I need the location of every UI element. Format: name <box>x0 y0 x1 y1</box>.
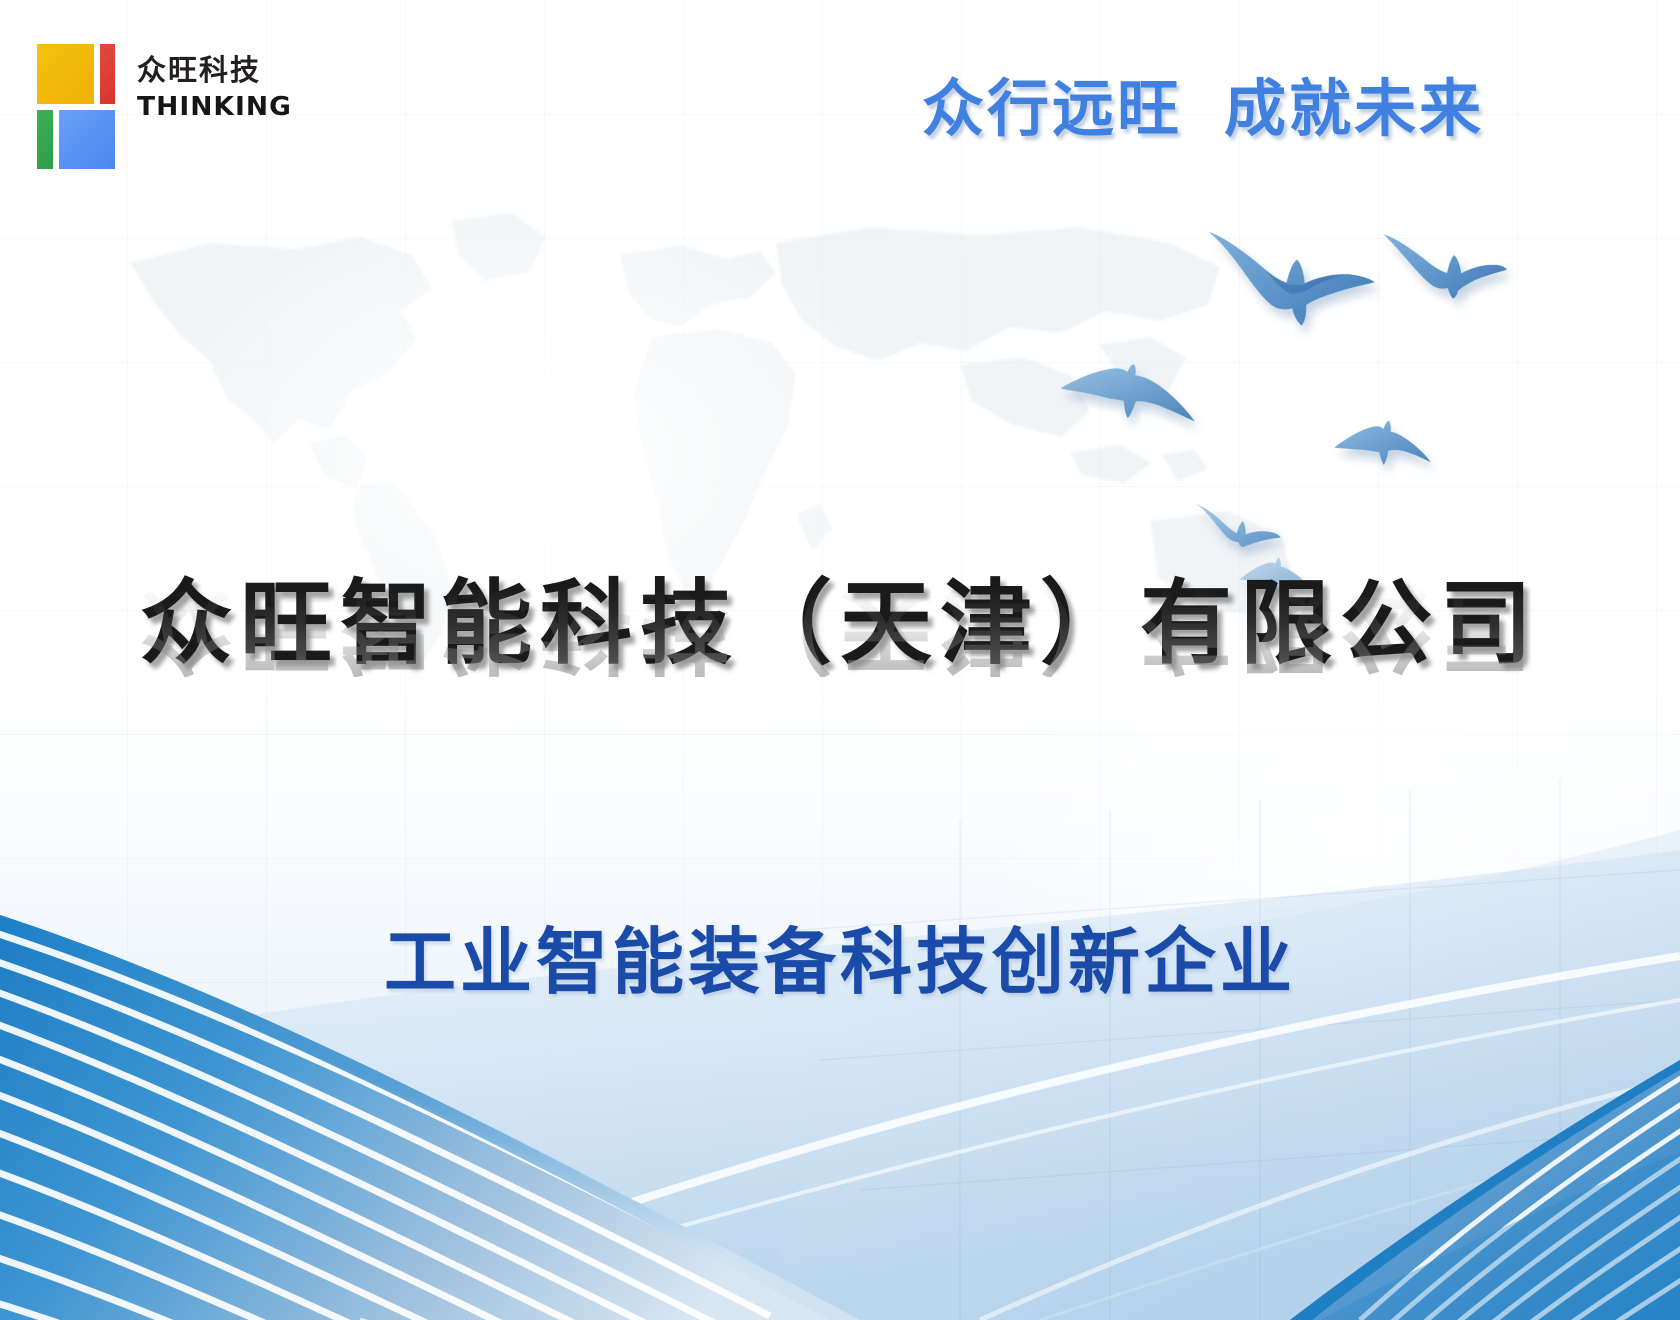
seagull-icon <box>1207 216 1380 333</box>
page-subtitle: 工业智能装备科技创新企业 <box>0 903 1680 1008</box>
bottom-wave-decoration <box>0 760 1680 1320</box>
seagull-icon <box>1381 219 1510 307</box>
seagull-icon <box>1332 416 1432 471</box>
title-group: 众旺智能科技（天津）有限公司 众旺智能科技（天津）有限公司 <box>0 576 1680 773</box>
page-title-reflection: 众旺智能科技（天津）有限公司 <box>0 580 1680 677</box>
title-slide: 众旺科技 THINKING 众行远旺成就未来 <box>0 0 1680 1320</box>
seagull-icon <box>1056 358 1199 435</box>
seagull-icon <box>1189 496 1283 549</box>
